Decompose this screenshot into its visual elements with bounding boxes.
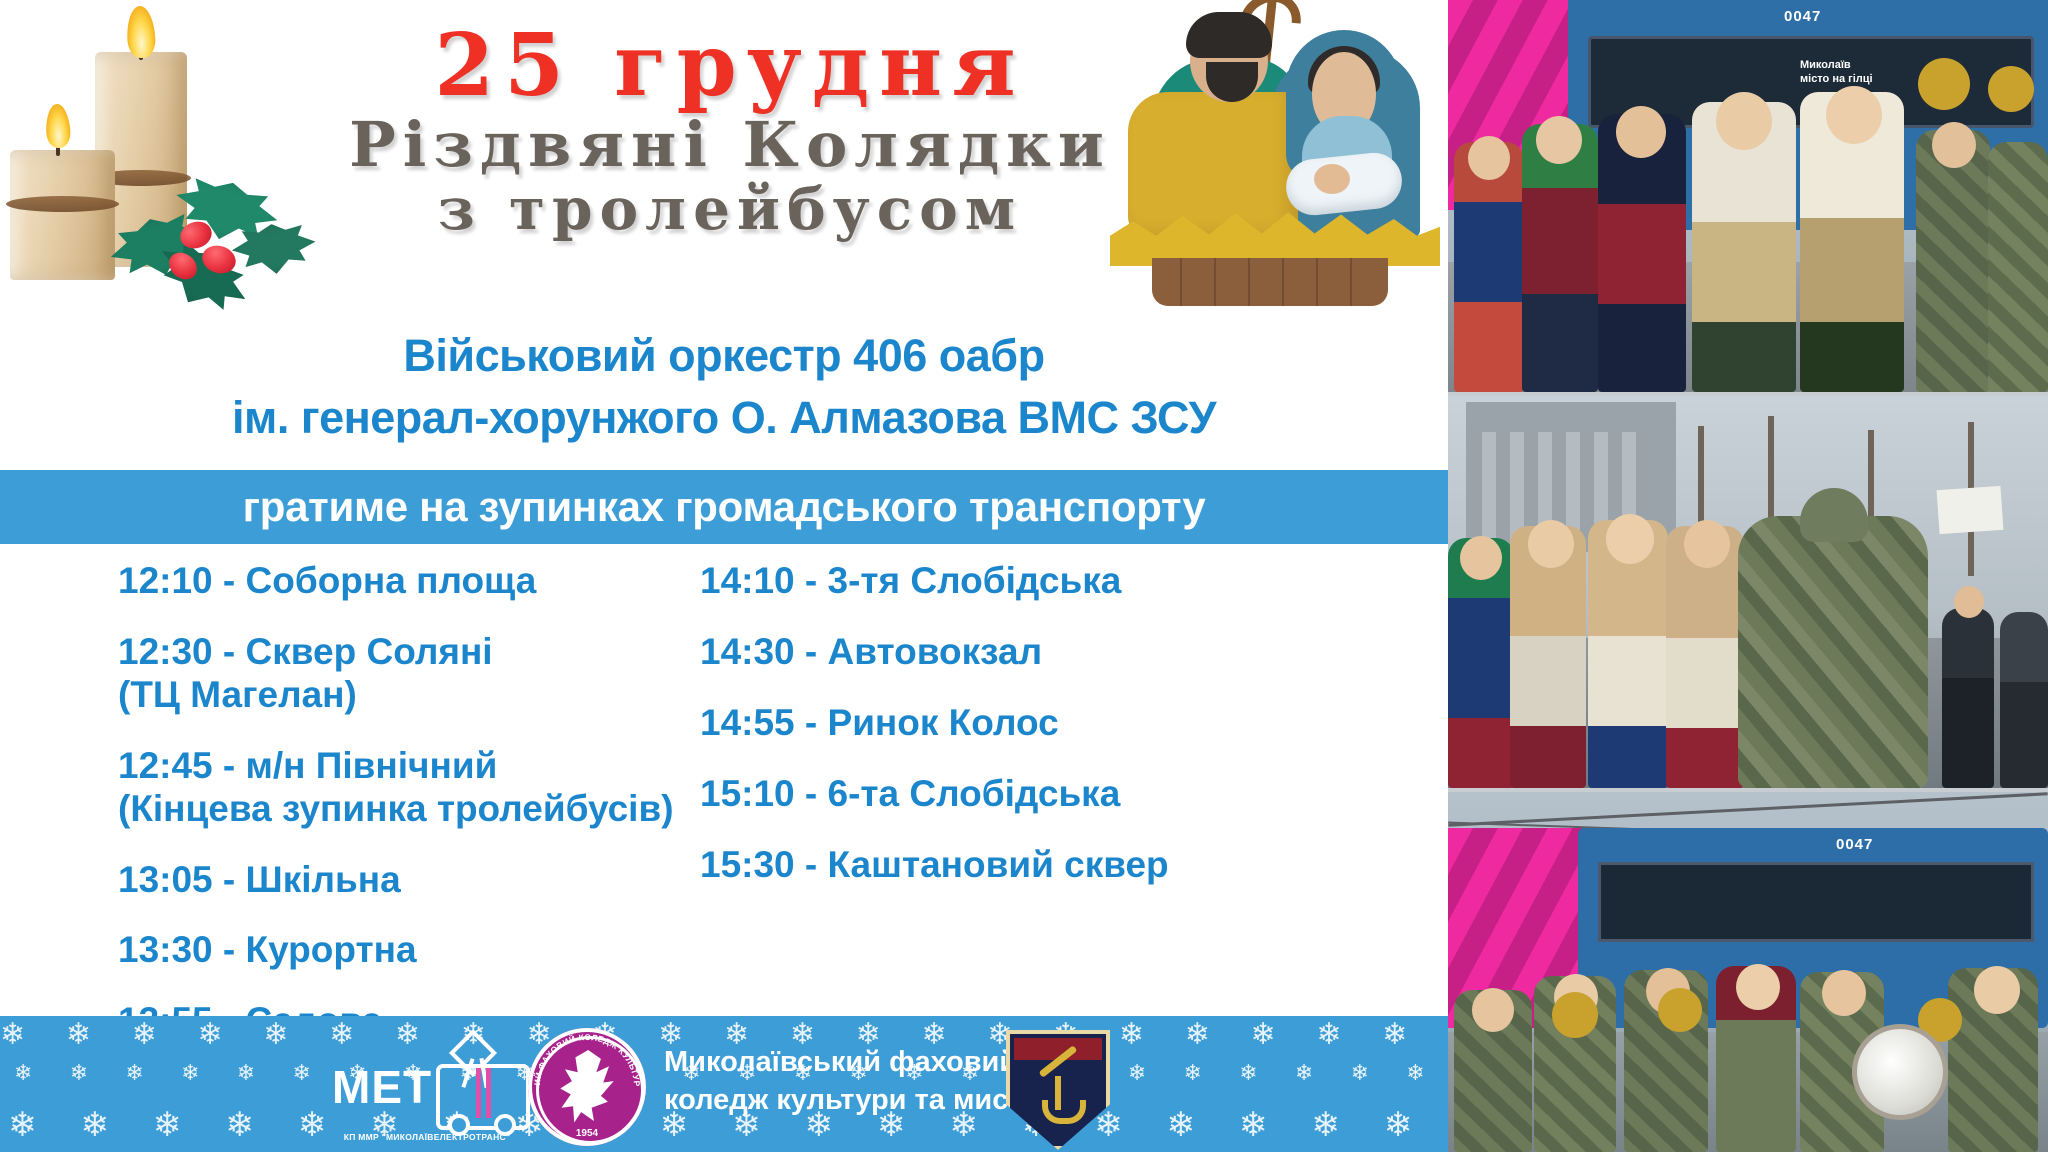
schedule-item: 15:10 - 6-та Слобідська: [700, 773, 1320, 816]
trolleybus-icon: [436, 1038, 522, 1132]
snowflake-icon: ❄: [181, 1062, 199, 1084]
schedule-item: 15:30 - Каштановий сквер: [700, 844, 1320, 887]
snowflake-icon: ❄: [66, 1020, 91, 1050]
footer-strip: ❄❄❄❄❄❄❄❄❄❄❄❄❄❄❄❄❄❄❄❄❄❄❄❄❄❄❄❄❄❄❄❄❄❄❄❄❄❄❄❄…: [0, 1016, 1448, 1152]
schedule-item-note: (Кінцева зупинка тролейбусів): [118, 788, 678, 831]
schedule-item-main: 15:30 - Каштановий сквер: [700, 844, 1169, 885]
anchor-icon: [1042, 1074, 1074, 1118]
snowflake-icon: ❄: [263, 1020, 288, 1050]
met-logo-text: МЕТ: [332, 1060, 432, 1114]
snowflake-icon: ❄: [132, 1020, 157, 1050]
snowflake-icon: ❄: [1406, 1062, 1424, 1084]
college-seal-arc-text: МИКОЛАЇВСЬКИЙ ФАХОВИЙ КОЛЕДЖ КУЛЬТУРИ І …: [528, 1028, 646, 1146]
snowflake-icon: ❄: [1316, 1020, 1341, 1050]
snowflake-icon: ❄: [70, 1062, 88, 1084]
photo3-trolley-number: 0047: [1836, 836, 1873, 853]
schedule-item-main: 12:30 - Сквер Соляні: [118, 631, 493, 672]
snowflake-icon: ❄: [1184, 1062, 1202, 1084]
snowflake-icon: ❄: [125, 1062, 143, 1084]
schedule-item-main: 14:30 - Автовокзал: [700, 631, 1042, 672]
snowflake-icon: ❄: [1384, 1108, 1413, 1142]
snowflake-icon: ❄: [1166, 1108, 1195, 1142]
military-shield-emblem: [1006, 1030, 1102, 1142]
schedule-column-left: 12:10 - Соборна площа12:30 - Сквер Солян…: [118, 560, 678, 1071]
performer-line2: ім. генерал-хорунжого О. Алмазова ВМС ЗС…: [0, 392, 1448, 444]
schedule-item-main: 14:10 - 3-тя Слобідська: [700, 560, 1121, 601]
photo1-trolley-number: 0047: [1784, 8, 1821, 25]
schedule-item: 14:30 - Автовокзал: [700, 631, 1320, 674]
nativity-illustration: [1110, 0, 1440, 306]
snowflake-icon: ❄: [292, 1062, 310, 1084]
snowflake-icon: ❄: [14, 1062, 32, 1084]
schedule-item-main: 13:30 - Курортна: [118, 929, 417, 970]
event-title-line1: Різдвяні Колядки: [330, 112, 1130, 177]
holly-decoration: [110, 180, 330, 320]
photo-band-performance: 0047: [1448, 792, 2048, 1152]
flame-short-icon: [45, 103, 71, 148]
flame-tall-icon: [126, 5, 157, 58]
banner-strip: гратиме на зупинках громадського транспо…: [0, 470, 1448, 544]
banner-text: гратиме на зупинках громадського транспо…: [243, 483, 1206, 531]
snowflake-icon: ❄: [1239, 1108, 1268, 1142]
schedule-item-main: 12:10 - Соборна площа: [118, 560, 536, 601]
candles-illustration: [0, 0, 330, 330]
schedule-item: 12:30 - Сквер Соляні(ТЦ Магелан): [118, 631, 678, 717]
snowflake-icon: ❄: [197, 1020, 222, 1050]
snowflake-icon: ❄: [153, 1108, 182, 1142]
schedule-item-main: 12:45 - м/н Північний: [118, 745, 497, 786]
snowflake-icon: ❄: [1128, 1062, 1146, 1084]
snowflake-icon: ❄: [8, 1108, 37, 1142]
schedule-item: 13:30 - Курортна: [118, 929, 678, 972]
schedule-item: 12:10 - Соборна площа: [118, 560, 678, 603]
headline-block: 25 грудня Різдвяні Колядки з тролейбусом: [330, 22, 1130, 240]
schedule-item: 14:10 - 3-тя Слобідська: [700, 560, 1320, 603]
snowflake-icon: ❄: [1295, 1062, 1313, 1084]
schedule-section: 12:10 - Соборна площа12:30 - Сквер Солян…: [0, 560, 1448, 1000]
content-column: 25 грудня Різдвяні Колядки з тролейбусом…: [0, 0, 1448, 1152]
snowflake-icon: ❄: [0, 1020, 25, 1050]
schedule-item-main: 15:10 - 6-та Слобідська: [700, 773, 1120, 814]
schedule-item: 12:45 - м/н Північний(Кінцева зупинка тр…: [118, 745, 678, 831]
snowflake-icon: ❄: [80, 1108, 109, 1142]
snowflake-icon: ❄: [237, 1062, 255, 1084]
photo-carolers-at-trolleybus: 0047 Миколаївмісто на гілці: [1448, 0, 2048, 392]
snowflake-icon: ❄: [1382, 1020, 1407, 1050]
snowflake-icon: ❄: [1239, 1062, 1257, 1084]
schedule-item: 13:05 - Шкільна: [118, 859, 678, 902]
schedule-item-note: (ТЦ Магелан): [118, 674, 678, 717]
schedule-item: 14:55 - Ринок Колос: [700, 702, 1320, 745]
college-seal: 1954 МИКОЛАЇВСЬКИЙ ФАХОВИЙ КОЛЕДЖ КУЛЬТУ…: [528, 1028, 646, 1146]
poster-root: 25 грудня Різдвяні Колядки з тролейбусом…: [0, 0, 2048, 1152]
snowflake-icon: ❄: [298, 1108, 327, 1142]
candle-short: [10, 150, 115, 280]
photo-crowd-with-soldier: [1448, 396, 2048, 788]
event-date: 25 грудня: [330, 22, 1130, 110]
snowflake-icon: ❄: [1185, 1020, 1210, 1050]
met-logo: МЕТ КП ММР "МИКОЛАЇВЕЛЕКТРОТРАНС": [332, 1038, 522, 1138]
met-logo-caption: КП ММР "МИКОЛАЇВЕЛЕКТРОТРАНС": [324, 1132, 530, 1142]
snowflake-icon: ❄: [1119, 1020, 1144, 1050]
performer-line1: Військовий оркестр 406 оабр: [0, 330, 1448, 382]
schedule-column-right: 14:10 - 3-тя Слобідська14:30 - Автовокза…: [700, 560, 1320, 915]
snowflake-icon: ❄: [1311, 1108, 1340, 1142]
photo-column: 0047 Миколаївмісто на гілці: [1448, 0, 2048, 1152]
manger: [1152, 258, 1388, 306]
snowflake-icon: ❄: [1251, 1020, 1276, 1050]
snowflake-icon: ❄: [1351, 1062, 1369, 1084]
schedule-item-main: 13:05 - Шкільна: [118, 859, 401, 900]
event-title-line2: з тролейбусом: [330, 179, 1130, 240]
svg-text:МИКОЛАЇВСЬКИЙ ФАХОВИЙ КОЛЕДЖ К: МИКОЛАЇВСЬКИЙ ФАХОВИЙ КОЛЕДЖ КУЛЬТУРИ І …: [528, 1028, 642, 1087]
schedule-item-main: 14:55 - Ринок Колос: [700, 702, 1059, 743]
photo1-trolley-text: Миколаївмісто на гілці: [1800, 58, 1873, 87]
snowflake-icon: ❄: [225, 1108, 254, 1142]
